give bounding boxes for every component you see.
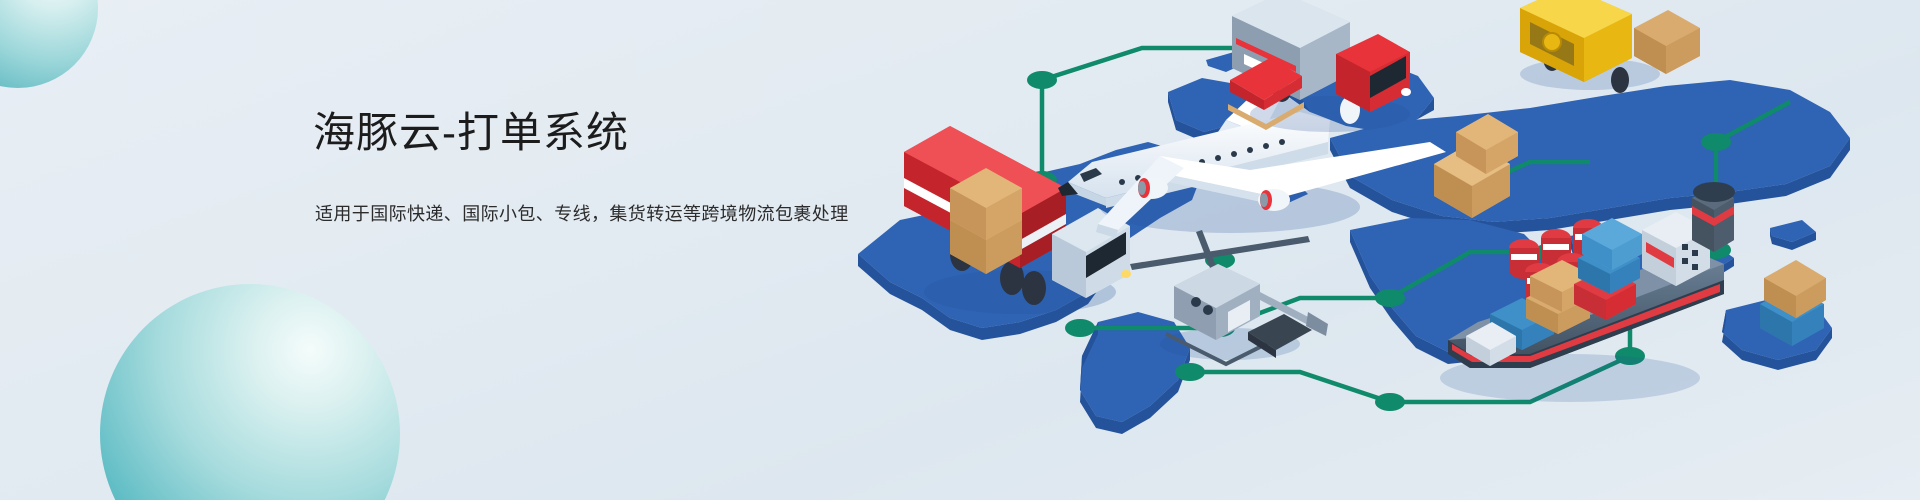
delivery-van-yellow	[1520, 0, 1700, 93]
hero-text-block: 海豚云-打单系统 适用于国际快递、国际小包、专线，集货转运等跨境物流包裹处理	[313, 108, 849, 226]
page-subtitle: 适用于国际快递、国际小包、专线，集货转运等跨境物流包裹处理	[315, 200, 849, 226]
isometric-global-logistics-illustration	[830, 0, 1920, 492]
semi-truck-red	[904, 126, 1131, 314]
box-truck	[1228, 0, 1411, 132]
teal-sphere-decoration-bottom	[100, 284, 400, 500]
cardboard-boxes	[950, 168, 1022, 274]
page-title: 海豚云-打单系统	[313, 108, 849, 158]
teal-sphere-decoration-top	[0, 0, 98, 88]
hero-banner: 海豚云-打单系统 适用于国际快递、国际小包、专线，集货转运等跨境物流包裹处理	[0, 0, 1920, 500]
